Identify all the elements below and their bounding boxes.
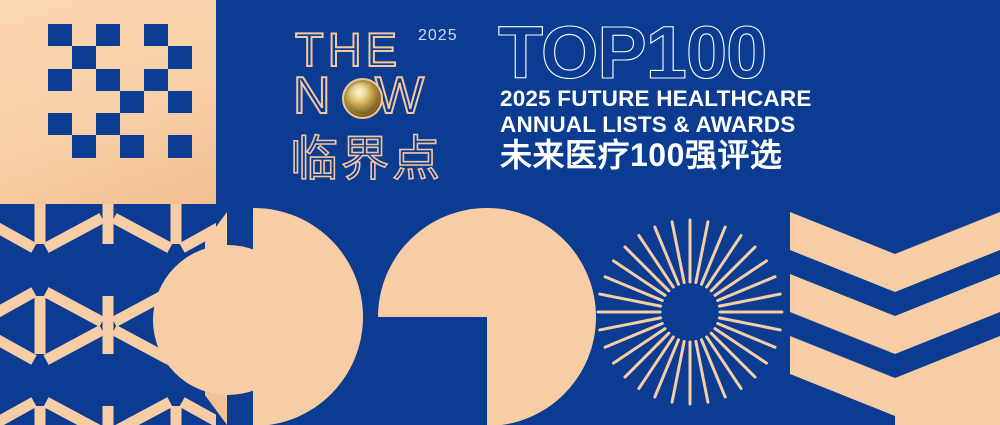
checker-cell-0-1 [48,24,72,46]
checker-cell-0-4 [120,24,144,46]
checker-cell-3-5 [144,91,168,113]
checker-cell-1-0 [24,46,48,68]
checker-cell-4-3 [96,113,120,135]
checker-cell-2-0 [24,69,48,91]
logo-chinese-name: 临界点 [290,136,443,184]
checker-cell-2-1 [48,69,72,91]
checker-cell-6-6 [168,158,192,180]
checker-cell-2-5 [144,69,168,91]
gold-orb-icon [342,78,383,119]
checker-cell-4-5 [144,113,168,135]
checker-cell-5-3 [96,135,120,157]
checker-cell-0-2 [72,24,96,46]
checker-cell-4-6 [168,113,192,135]
checker-cell-0-6 [168,24,192,46]
checker-cell-5-1 [48,135,72,157]
logo-year: 2025 [418,27,458,45]
checker-cell-2-3 [96,69,120,91]
checker-cell-3-1 [48,91,72,113]
checker-cell-6-0 [24,158,48,180]
headline-subtitle-en-2: ANNUAL LISTS & AWARDS [500,113,900,137]
notched-circle-cutout [378,317,487,425]
checker-cell-3-2 [72,91,96,113]
award-banner: THE 2025 NOW 临界点 TOP100 2025 FUTURE HEAL… [0,0,1000,425]
checker-cell-5-6 [168,135,192,157]
checker-cell-2-6 [168,69,192,91]
headline-subtitle-cn: 未来医疗100强评选 [500,138,900,174]
checker-cell-2-4 [120,69,144,91]
checker-cell-5-2 [72,135,96,157]
checker-cell-4-0 [24,113,48,135]
checkerboard-pattern [0,0,216,204]
checker-cell-1-1 [48,46,72,68]
checker-cell-4-1 [48,113,72,135]
checker-cell-5-0 [24,135,48,157]
checker-cell-3-4 [120,91,144,113]
headline-title: TOP100 [498,20,900,85]
logo-text-the: THE [295,26,401,73]
checkerboard-grid [24,24,192,180]
checker-cell-3-3 [96,91,120,113]
half-circle-shape [253,208,363,425]
checker-cell-0-0 [24,24,48,46]
checker-cell-1-5 [144,46,168,68]
checker-cell-1-3 [96,46,120,68]
checker-cell-2-2 [72,69,96,91]
checker-cell-4-4 [120,113,144,135]
checker-cell-3-6 [168,91,192,113]
brand-logo: THE 2025 NOW 临界点 [290,18,490,193]
checker-cell-3-0 [24,91,48,113]
checker-cell-6-1 [48,158,72,180]
checker-cell-0-3 [96,24,120,46]
sunburst-pattern [596,218,784,406]
checker-cell-6-5 [144,158,168,180]
checker-cell-1-2 [72,46,96,68]
checker-cell-0-5 [144,24,168,46]
logo-now-n: N [293,67,333,125]
checker-cell-1-6 [168,46,192,68]
checker-cell-5-4 [120,135,144,157]
headline-subtitle-en-1: 2025 FUTURE HEALTHCARE [500,87,900,111]
checker-cell-4-2 [72,113,96,135]
checker-cell-5-5 [144,135,168,157]
checker-cell-6-2 [72,158,96,180]
checker-cell-6-3 [96,158,120,180]
checker-cell-1-4 [120,46,144,68]
chevron-stripes-pattern [790,204,1000,425]
headline-block: TOP100 2025 FUTURE HEALTHCARE ANNUAL LIS… [500,20,900,174]
checker-cell-6-4 [120,158,144,180]
